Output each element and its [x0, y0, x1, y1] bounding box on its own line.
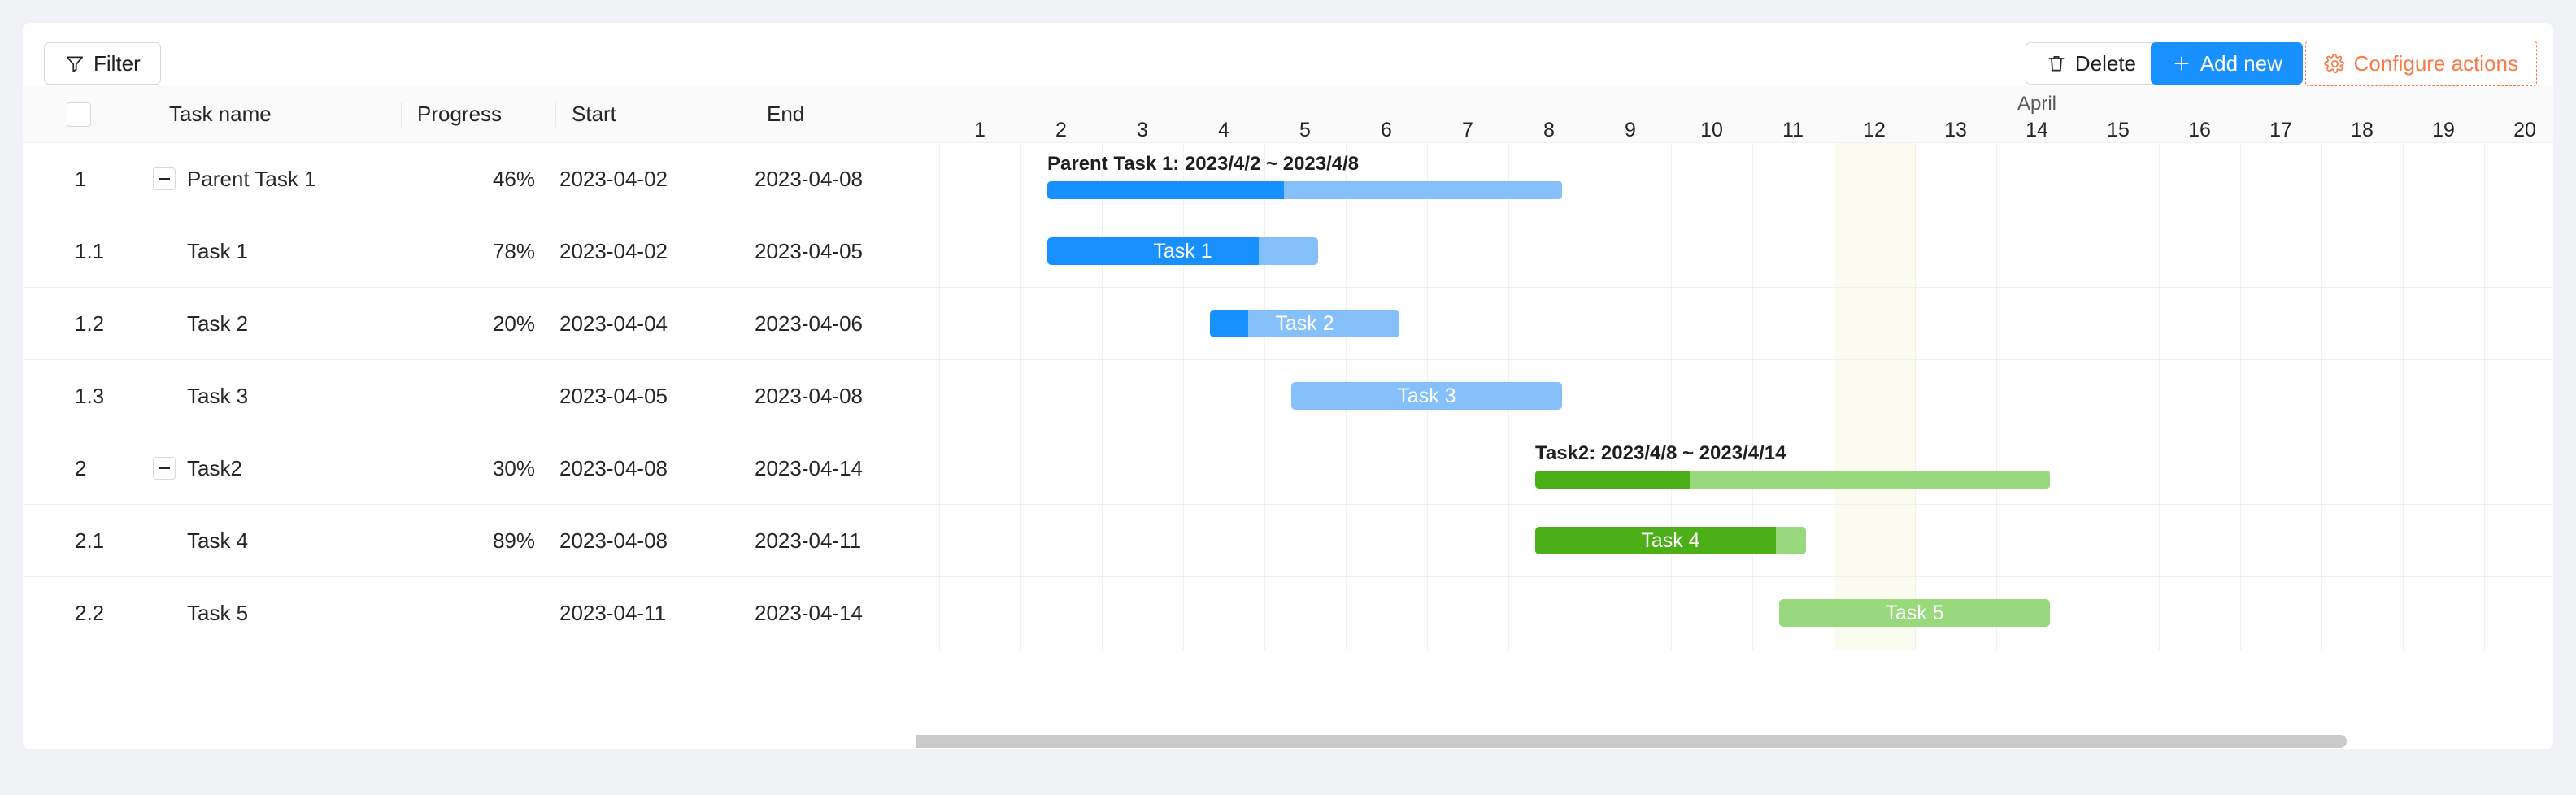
start-date-cell: 2023-04-11 — [559, 577, 755, 649]
end-date-cell: 2023-04-08 — [755, 360, 950, 432]
delete-button[interactable]: Delete — [2026, 42, 2156, 85]
end-date-cell: 2023-04-11 — [755, 505, 950, 576]
start-date-cell: 2023-04-02 — [559, 143, 755, 215]
row-index: 1.1 — [75, 215, 132, 287]
task-name-label: Task2 — [187, 456, 242, 481]
start-date-cell: 2023-04-08 — [559, 505, 755, 576]
timeline-row-divider — [916, 287, 2553, 288]
gantt-grid: Task name Progress Start End 1Parent Tas… — [23, 86, 2553, 749]
gantt-bar[interactable] — [1535, 471, 2050, 489]
timeline-column-divider — [1183, 143, 1184, 650]
progress-cell: 20% — [405, 288, 535, 359]
table-row[interactable]: 2Task230%2023-04-082023-04-14 — [23, 432, 916, 505]
column-divider — [751, 102, 751, 127]
bar-title-label: Parent Task 1: 2023/4/2 ~ 2023/4/8 — [1047, 153, 1359, 176]
gantt-bar[interactable]: Task 1 — [1047, 237, 1318, 265]
gantt-app-root: Filter Delete Add new — [0, 0, 2576, 795]
timeline-day-label: 1 — [939, 119, 1020, 142]
progress-cell — [405, 360, 535, 432]
plus-icon — [2171, 53, 2192, 74]
configure-actions-button[interactable]: Configure actions — [2305, 41, 2537, 86]
timeline-day-label: 5 — [1264, 119, 1346, 142]
timeline-day-label: 17 — [2240, 119, 2321, 142]
row-index: 2.1 — [75, 505, 132, 576]
trash-icon — [2046, 53, 2067, 74]
end-date-cell: 2023-04-14 — [755, 432, 950, 504]
table-header-row: Task name Progress Start End — [23, 86, 916, 143]
collapse-toggle-icon[interactable] — [153, 457, 176, 480]
row-index: 2 — [75, 432, 132, 504]
timeline-day-label: 11 — [1752, 119, 1834, 142]
end-date-cell: 2023-04-14 — [755, 577, 950, 649]
task-name-label: Task 5 — [187, 601, 248, 626]
filter-icon — [64, 53, 85, 74]
timeline-column-divider — [1752, 143, 1753, 650]
row-index: 1.2 — [75, 288, 132, 359]
timeline-day-label: 10 — [1671, 119, 1752, 142]
progress-cell: 46% — [405, 143, 535, 215]
start-date-cell: 2023-04-05 — [559, 360, 755, 432]
timeline-column-divider — [2321, 143, 2322, 650]
timeline-day-label: 15 — [2078, 119, 2159, 142]
gantt-bar[interactable]: Task 5 — [1779, 599, 2050, 627]
gear-icon — [2324, 53, 2346, 75]
timeline-column-divider — [2403, 143, 2404, 650]
collapse-toggle-icon[interactable] — [153, 167, 176, 190]
timeline-row-divider — [916, 649, 2553, 649]
table-row[interactable]: 2.2Task 52023-04-112023-04-14 — [23, 577, 916, 649]
timeline-row-divider — [916, 504, 2553, 505]
timeline-day-label: 6 — [1346, 119, 1427, 142]
timeline-column-divider — [1834, 143, 1834, 650]
task-name-label: Task 1 — [187, 239, 248, 264]
task-table-pane: Task name Progress Start End 1Parent Tas… — [23, 86, 916, 749]
timeline-day-label: 13 — [1915, 119, 1996, 142]
timeline-pane: April 1234567891011121314151617181920 Pa… — [916, 86, 2553, 749]
task-name-label: Parent Task 1 — [187, 167, 316, 192]
timeline-day-label: 19 — [2403, 119, 2484, 142]
gantt-bar-progress-fill — [1535, 527, 1776, 554]
task-name-label: Task 3 — [187, 384, 248, 409]
timeline-month-label: April — [2017, 93, 2056, 115]
column-header-start[interactable]: Start — [572, 86, 616, 142]
gantt-bar-label: Task 5 — [1885, 602, 1943, 625]
timeline-column-divider — [2078, 143, 2078, 650]
table-row[interactable]: 2.1Task 489%2023-04-082023-04-11 — [23, 505, 916, 577]
timeline-column-divider — [2159, 143, 2160, 650]
start-date-cell: 2023-04-02 — [559, 215, 755, 287]
timeline-row-divider — [916, 215, 2553, 215]
bar-title-label: Task2: 2023/4/8 ~ 2023/4/14 — [1535, 442, 1786, 465]
gantt-bar[interactable]: Task 2 — [1210, 310, 1399, 337]
timeline-day-label: 8 — [1508, 119, 1590, 142]
timeline-day-label: 12 — [1834, 119, 1915, 142]
select-all-checkbox[interactable] — [67, 102, 91, 127]
start-date-cell: 2023-04-08 — [559, 432, 755, 504]
end-date-cell: 2023-04-05 — [755, 215, 950, 287]
timeline-body: Parent Task 1: 2023/4/2 ~ 2023/4/8Task 1… — [916, 143, 2553, 749]
progress-cell: 78% — [405, 215, 535, 287]
timeline-column-divider — [1264, 143, 1265, 650]
task-name-cell: Task 3 — [153, 360, 340, 432]
column-header-progress[interactable]: Progress — [417, 86, 502, 142]
gantt-bar-label: Task 2 — [1275, 312, 1334, 336]
timeline-row-divider — [916, 359, 2553, 360]
timeline-day-label: 4 — [1183, 119, 1264, 142]
timeline-column-divider — [1915, 143, 1916, 650]
gantt-bar-label: Task 3 — [1397, 384, 1456, 408]
timeline-day-label: 9 — [1590, 119, 1671, 142]
gantt-bar-progress-fill — [1210, 310, 1248, 337]
gantt-bar-progress-fill — [1047, 181, 1284, 199]
table-row[interactable]: 1Parent Task 146%2023-04-022023-04-08 — [23, 143, 916, 215]
table-row[interactable]: 1.1Task 178%2023-04-022023-04-05 — [23, 215, 916, 288]
timeline-day-label: 14 — [1996, 119, 2078, 142]
gantt-bar-progress-fill — [1535, 471, 1690, 489]
gantt-bar-progress-fill — [1047, 237, 1259, 265]
select-all-cell — [67, 86, 107, 142]
gantt-bar[interactable]: Task 3 — [1291, 382, 1562, 410]
add-new-button-label: Add new — [2200, 53, 2282, 74]
timeline-day-label: 7 — [1427, 119, 1508, 142]
task-name-cell: Parent Task 1 — [153, 143, 340, 215]
column-divider — [401, 102, 402, 127]
row-index: 1 — [75, 143, 132, 215]
today-highlight-column — [1834, 143, 1915, 650]
column-header-task-name[interactable]: Task name — [169, 86, 272, 142]
end-date-cell: 2023-04-08 — [755, 143, 950, 215]
task-name-cell: Task2 — [153, 432, 340, 504]
timeline-column-divider — [1590, 143, 1590, 650]
filter-button-label: Filter — [94, 53, 141, 74]
timeline-day-label: 20 — [2484, 119, 2553, 142]
timeline-row-divider — [916, 576, 2553, 577]
timeline-column-divider — [1671, 143, 1672, 650]
table-row[interactable]: 1.3Task 32023-04-052023-04-08 — [23, 360, 916, 432]
start-date-cell: 2023-04-04 — [559, 288, 755, 359]
table-body: 1Parent Task 146%2023-04-022023-04-081.1… — [23, 143, 916, 649]
timeline-day-label: 16 — [2159, 119, 2240, 142]
filter-button[interactable]: Filter — [44, 42, 161, 85]
configure-actions-label: Configure actions — [2354, 53, 2518, 74]
column-divider — [555, 102, 556, 127]
task-name-label: Task 2 — [187, 311, 248, 337]
task-name-label: Task 4 — [187, 528, 248, 554]
delete-button-label: Delete — [2075, 53, 2136, 74]
row-index: 2.2 — [75, 577, 132, 649]
timeline-column-divider — [1020, 143, 1021, 650]
toolbar: Filter Delete Add new — [23, 23, 2553, 86]
timeline-column-divider — [1996, 143, 1997, 650]
gantt-card: Filter Delete Add new — [23, 23, 2553, 749]
timeline-header: April 1234567891011121314151617181920 — [916, 86, 2553, 143]
column-header-end[interactable]: End — [767, 86, 804, 142]
end-date-cell: 2023-04-06 — [755, 288, 950, 359]
progress-cell: 89% — [405, 505, 535, 576]
progress-cell — [405, 577, 535, 649]
timeline-column-divider — [2240, 143, 2241, 650]
gantt-bar[interactable]: Task 4 — [1535, 527, 1806, 554]
task-name-cell: Task 5 — [153, 577, 340, 649]
timeline-day-label: 2 — [1020, 119, 1102, 142]
gantt-bar[interactable] — [1047, 181, 1562, 199]
timeline-column-divider — [2484, 143, 2485, 650]
timeline-row-divider — [916, 432, 2553, 432]
task-name-cell: Task 4 — [153, 505, 340, 576]
timeline-day-label: 3 — [1102, 119, 1183, 142]
add-new-button[interactable]: Add new — [2151, 42, 2303, 85]
timeline-column-divider — [1102, 143, 1103, 650]
progress-cell: 30% — [405, 432, 535, 504]
table-row[interactable]: 1.2Task 220%2023-04-042023-04-06 — [23, 288, 916, 360]
timeline-day-label: 18 — [2321, 119, 2403, 142]
row-index: 1.3 — [75, 360, 132, 432]
task-name-cell: Task 1 — [153, 215, 340, 287]
task-name-cell: Task 2 — [153, 288, 340, 359]
